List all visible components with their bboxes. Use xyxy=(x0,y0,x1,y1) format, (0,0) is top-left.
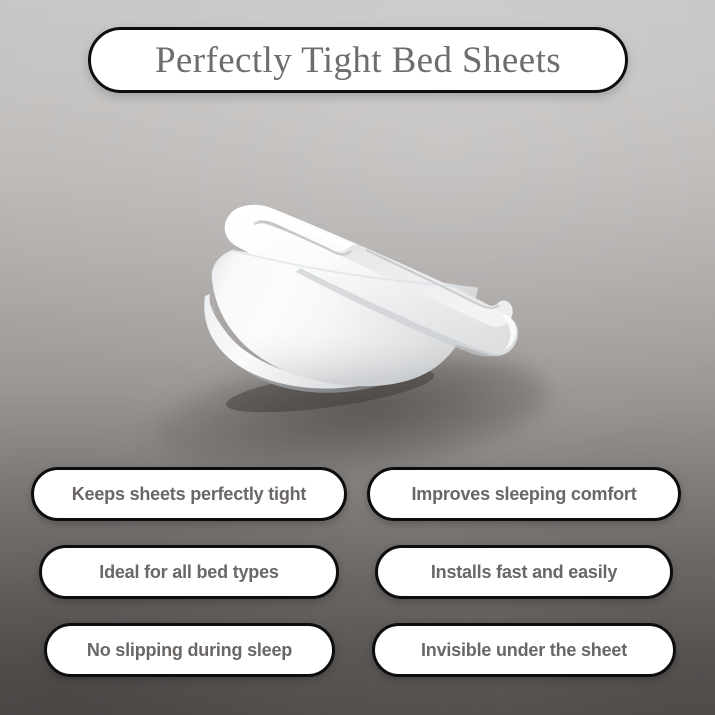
page-title-pill: Perfectly Tight Bed Sheets xyxy=(88,27,628,93)
feature-list: Keeps sheets perfectly tight Improves sl… xyxy=(0,463,715,693)
feature-label: Ideal for all bed types xyxy=(99,562,278,583)
product-marketing-card: Perfectly Tight Bed Sheets xyxy=(0,0,715,715)
feature-pill-ideal-all-beds[interactable]: Ideal for all bed types xyxy=(39,545,339,599)
product-image-stage xyxy=(0,100,715,440)
feature-label: Improves sleeping comfort xyxy=(411,484,636,505)
product-illustration xyxy=(0,100,715,440)
feature-pill-no-slipping[interactable]: No slipping during sleep xyxy=(44,623,335,677)
feature-pill-keeps-sheets-tight[interactable]: Keeps sheets perfectly tight xyxy=(31,467,347,521)
feature-pill-installs-fast[interactable]: Installs fast and easily xyxy=(375,545,673,599)
feature-pill-invisible-under-sheet[interactable]: Invisible under the sheet xyxy=(372,623,676,677)
feature-label: Installs fast and easily xyxy=(431,562,617,583)
feature-label: No slipping during sleep xyxy=(87,640,292,661)
feature-pill-improves-comfort[interactable]: Improves sleeping comfort xyxy=(367,467,681,521)
feature-label: Invisible under the sheet xyxy=(421,640,627,661)
feature-label: Keeps sheets perfectly tight xyxy=(72,484,306,505)
page-title: Perfectly Tight Bed Sheets xyxy=(155,39,561,82)
